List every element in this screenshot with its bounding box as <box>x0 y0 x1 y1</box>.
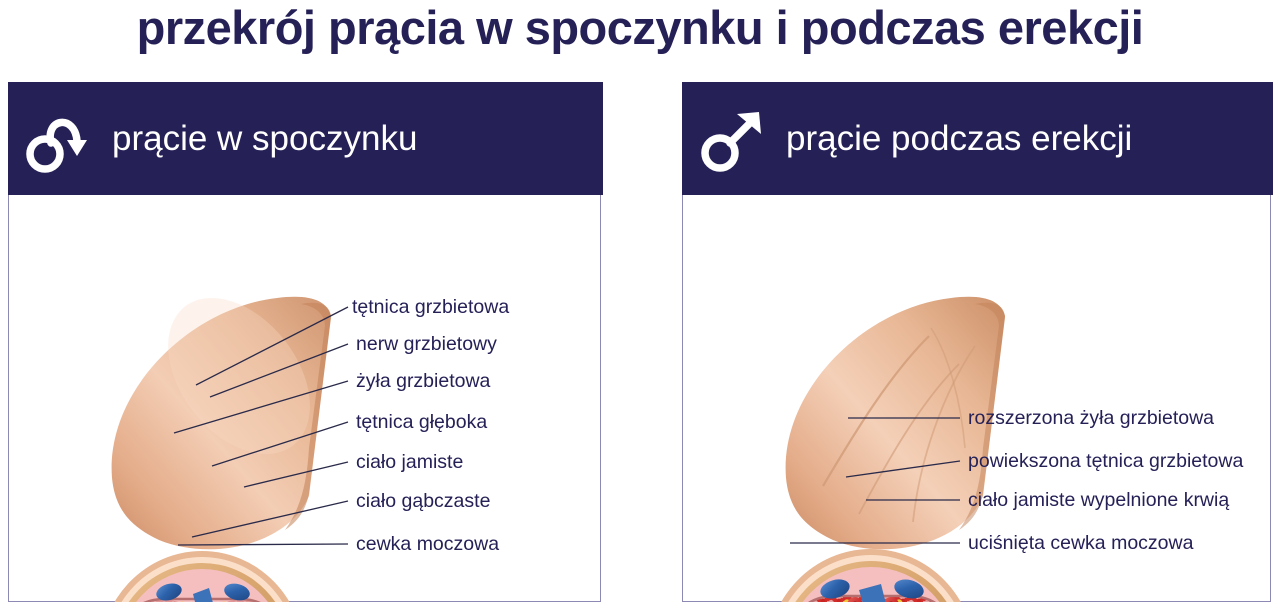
annotation-label: żyła grzbietowa <box>356 371 490 391</box>
annotation-label: cewka moczowa <box>356 534 499 554</box>
annotation-label: tętnica głęboka <box>356 412 487 432</box>
leader-lines <box>0 0 1280 608</box>
annotation-label: powiekszona tętnica grzbietowa <box>968 451 1243 471</box>
leader-line <box>244 462 348 487</box>
leader-line <box>174 381 348 433</box>
annotation-label: ciało jamiste wypelnione krwią <box>968 490 1229 510</box>
annotation-label: uciśnięta cewka moczowa <box>968 533 1193 553</box>
annotation-label: tętnica grzbietowa <box>352 297 509 317</box>
annotation-label: nerw grzbietowy <box>356 334 497 354</box>
leader-line <box>846 461 960 477</box>
leader-line <box>192 501 348 537</box>
annotation-label: ciało jamiste <box>356 452 463 472</box>
leader-line <box>178 544 348 545</box>
leader-line <box>212 422 348 466</box>
annotation-label: ciało gąbczaste <box>356 491 490 511</box>
diagram-root: przekrój prącia w spoczynku i podczas er… <box>0 0 1280 608</box>
leader-line <box>210 344 348 397</box>
annotation-label: rozszerzona żyła grzbietowa <box>968 408 1214 428</box>
